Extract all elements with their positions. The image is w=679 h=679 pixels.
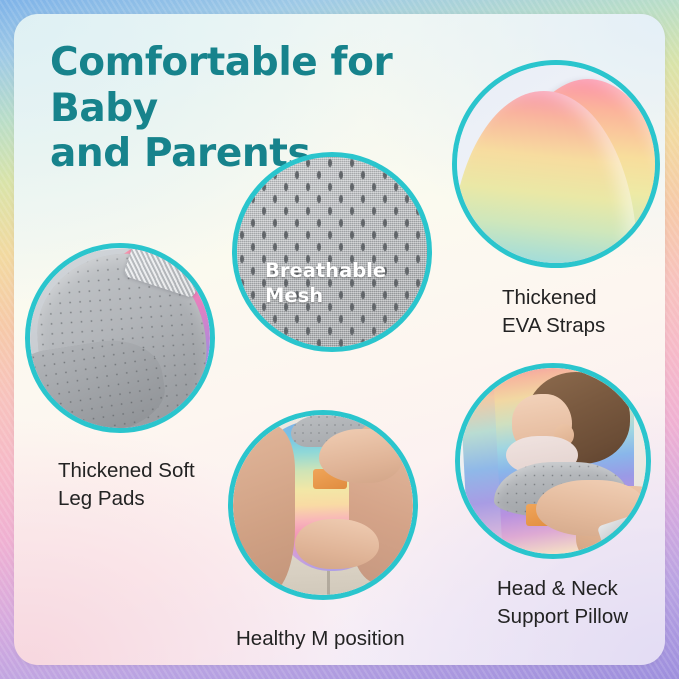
callout-ring-breathable-mesh: Breathable Mesh xyxy=(232,152,432,352)
photo-leg-pads xyxy=(30,248,210,428)
photo-head-neck-pillow xyxy=(460,368,646,554)
caption-m-position: Healthy M position xyxy=(236,625,466,653)
caption-eva-straps: Thickened EVA Straps xyxy=(502,284,665,339)
mesh-fabric-texture xyxy=(237,157,427,347)
content-card: Comfortable for Baby and Parents Breatha… xyxy=(14,14,665,665)
callout-ring-m-position xyxy=(228,410,418,600)
photo-breathable-mesh xyxy=(237,157,427,347)
photo-m-position xyxy=(233,415,413,595)
callout-ring-eva-straps xyxy=(452,60,660,268)
photo-eva-straps xyxy=(457,65,655,263)
caption-head-neck-pillow: Head & Neck Support Pillow xyxy=(497,575,665,630)
parent-hand-upper xyxy=(319,429,403,483)
overlay-label-breathable-mesh: Breathable Mesh xyxy=(265,258,386,309)
callout-ring-head-neck-pillow xyxy=(455,363,651,559)
parent-arm-left xyxy=(233,425,295,595)
callout-ring-leg-pads xyxy=(25,243,215,433)
parent-hand-lower xyxy=(295,519,379,569)
product-infographic: Comfortable for Baby and Parents Breatha… xyxy=(0,0,679,679)
